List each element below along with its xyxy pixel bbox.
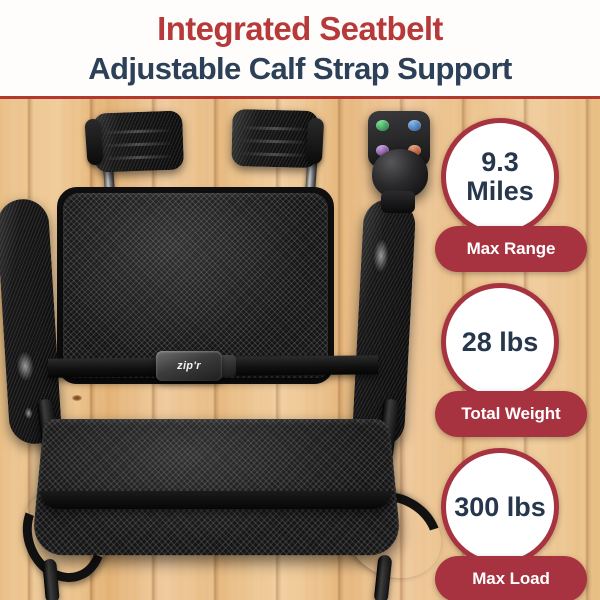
spec-value: 28 lbs xyxy=(462,328,539,357)
spec-label: Max Range xyxy=(467,239,556,259)
spec-label: Total Weight xyxy=(461,404,560,424)
spec-value: 300 lbs xyxy=(454,493,546,522)
spec-circle: 300 lbs xyxy=(441,448,559,566)
spec-pill: Max Range xyxy=(435,226,587,272)
spec-pill: Total Weight xyxy=(435,391,587,437)
spec-label: Max Load xyxy=(472,569,550,589)
spec-value: 9.3 xyxy=(481,148,519,177)
spec-badge-group: 9.3 Miles Max Range 28 lbs Total Weight … xyxy=(0,0,600,600)
spec-circle: 28 lbs xyxy=(441,283,559,401)
product-feature-graphic: Integrated Seatbelt Adjustable Calf Stra… xyxy=(0,0,600,600)
spec-pill: Max Load xyxy=(435,556,587,600)
spec-value-line2: Miles xyxy=(466,177,534,206)
spec-circle: 9.3 Miles xyxy=(441,118,559,236)
